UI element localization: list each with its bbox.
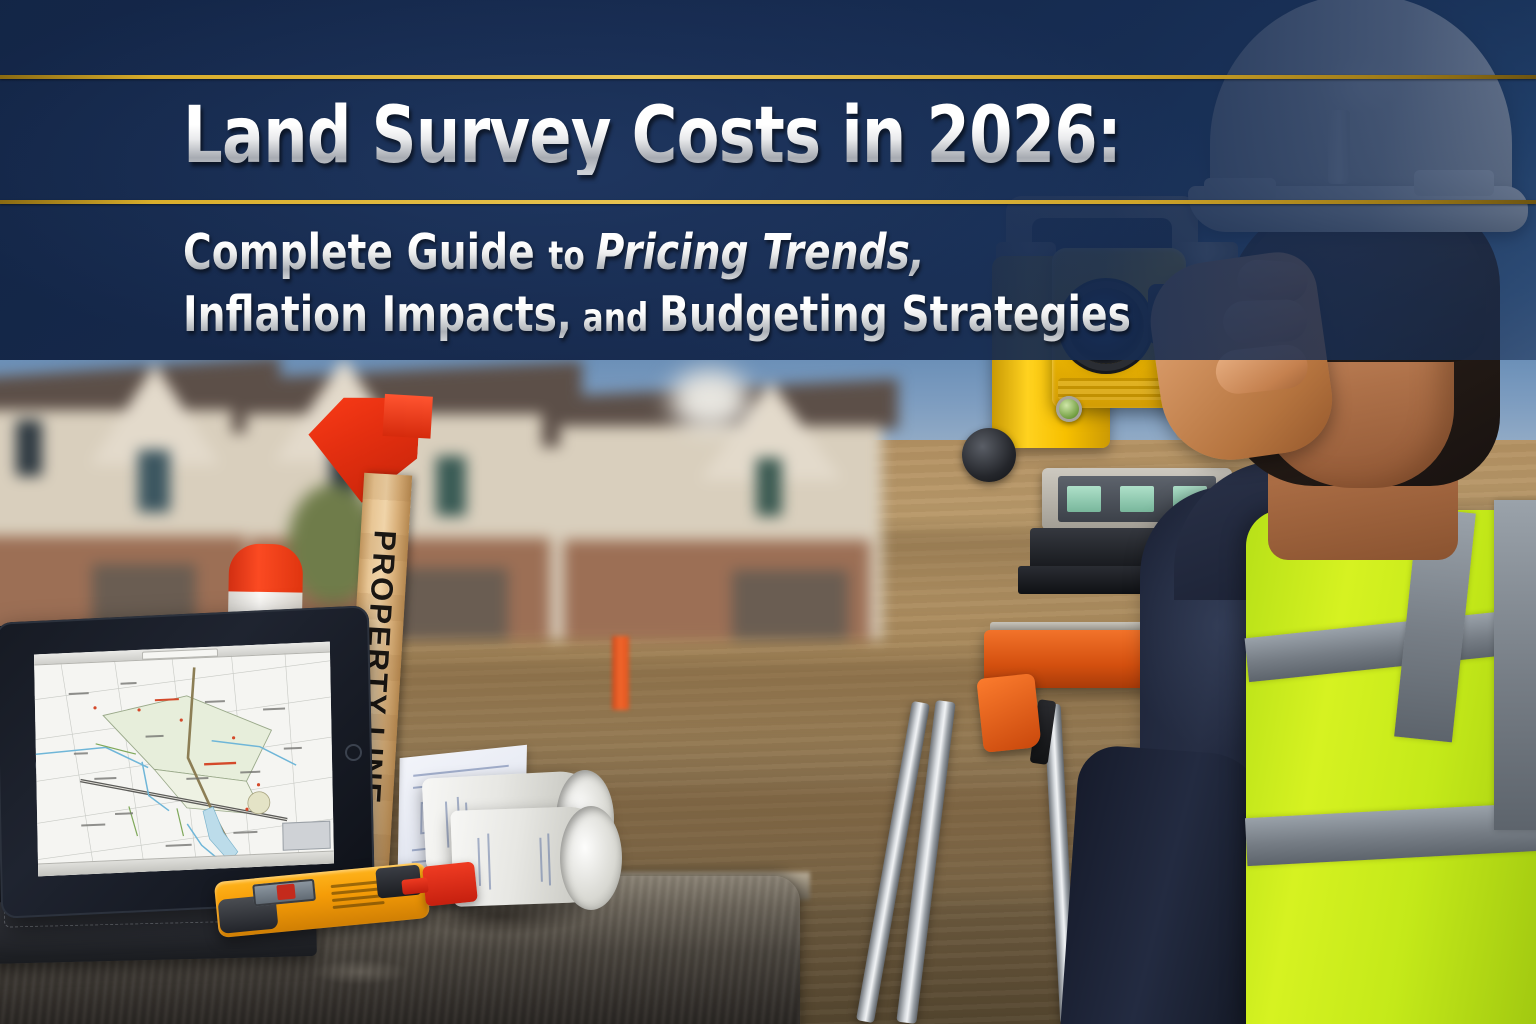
jacket-arm (1060, 744, 1269, 1024)
post-red-cap (228, 543, 303, 596)
subtitle-part-and: and (572, 296, 659, 341)
tripod-leg-clamp (976, 673, 1041, 753)
background-houses (0, 330, 1030, 640)
red-tool-handle (422, 861, 478, 906)
vest-reflective-stripe (1245, 802, 1536, 866)
total-station-tangent-knob[interactable] (962, 428, 1016, 482)
control-panel-key[interactable] (1120, 486, 1154, 512)
subtitle-part-to: to (548, 234, 595, 279)
red-flag-fold (382, 394, 432, 439)
subtitle-part-inflation-impacts: Inflation Impacts, (183, 286, 572, 343)
hero-banner-image: PROPERTY LINE (0, 0, 1536, 1024)
page-title: Land Survey Costs in 2026: (183, 97, 1121, 175)
subtitle-part-complete-guide: Complete Guide (183, 224, 548, 281)
blurred-object (670, 370, 750, 430)
orange-marker-stake (612, 636, 629, 710)
hi-vis-safety-vest (1246, 510, 1536, 1024)
vest-reflective-stripe (1245, 606, 1536, 682)
subtitle-line-2: Inflation Impacts, and Budgeting Strateg… (183, 290, 1131, 340)
bubble-level (1056, 396, 1082, 422)
tablet-camera (345, 744, 362, 761)
tablet-screen[interactable] (34, 642, 334, 877)
subtitle-part-budgeting-strategies: Budgeting Strategies (659, 286, 1131, 343)
blueprint-roll-opening (560, 806, 622, 910)
device-indicator (276, 884, 295, 901)
vest-reflective-stripe (1494, 500, 1536, 830)
subtitle-part-pricing-trends: Pricing Trends, (596, 224, 925, 281)
control-panel-key[interactable] (1067, 486, 1101, 512)
title-block: Land Survey Costs in 2026: Complete Guid… (0, 0, 1536, 360)
map-overview-inset[interactable] (282, 821, 331, 851)
subtitle-line-1: Complete Guide to Pricing Trends, (183, 228, 925, 278)
